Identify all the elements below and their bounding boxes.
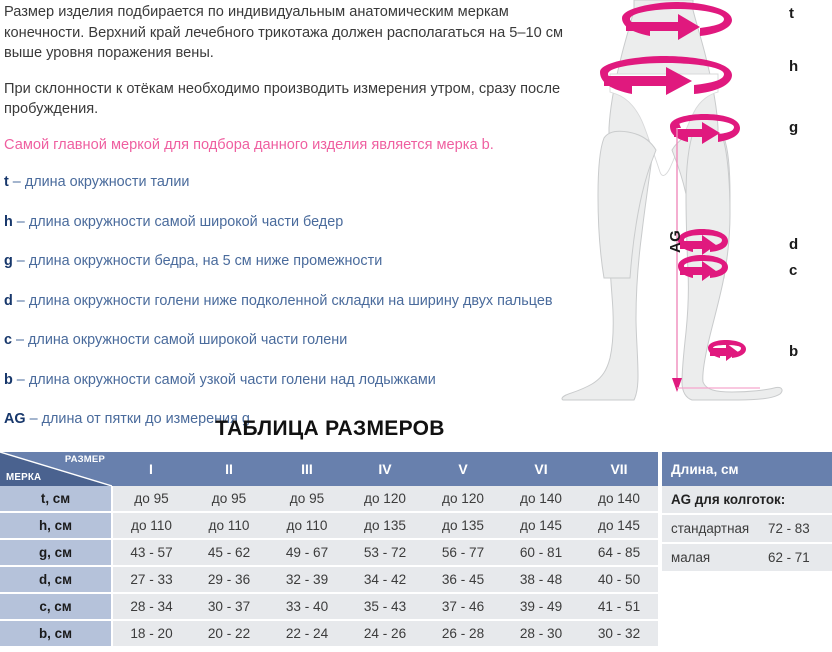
row-label-g: g, см <box>0 539 112 566</box>
legend-item-d: d – длина окружности голени ниже подколе… <box>4 292 570 311</box>
cell: 64 - 85 <box>580 539 658 566</box>
cell: до 110 <box>268 512 346 539</box>
cell: до 145 <box>580 512 658 539</box>
length-value-standard: 72 - 83 <box>766 514 832 543</box>
cell: 45 - 62 <box>190 539 268 566</box>
table-corner-cell: РАЗМЕР МЕРКА <box>0 452 112 486</box>
size-col-3: III <box>268 452 346 486</box>
legend-key-h: h <box>4 214 13 230</box>
size-table-header-row: РАЗМЕР МЕРКА I II III IV V VI VII <box>0 452 658 486</box>
legend-item-t: t – длина окружности талии <box>4 173 570 192</box>
legend-dash: – <box>16 332 24 348</box>
cell: 56 - 77 <box>424 539 502 566</box>
legend-text-h: длина окружности самой широкой части бед… <box>29 214 343 230</box>
size-col-2: II <box>190 452 268 486</box>
cell: 18 - 20 <box>112 620 190 646</box>
cell: до 135 <box>424 512 502 539</box>
length-table-subtitle-row: AG для колготок: <box>662 486 832 514</box>
corner-measure-label: МЕРКА <box>6 472 41 483</box>
top-section: Размер изделия подбирается по индивидуал… <box>0 0 832 410</box>
cell: до 120 <box>424 486 502 512</box>
measure-ring-b <box>708 340 746 361</box>
cell: 29 - 36 <box>190 566 268 593</box>
cell: до 145 <box>502 512 580 539</box>
figure-label-b: b <box>789 343 798 360</box>
measurement-diagram: t h g d c b AG <box>560 0 832 410</box>
cell: до 110 <box>190 512 268 539</box>
length-table-row: стандартная 72 - 83 <box>662 514 832 543</box>
legend-text-d: длина окружности голени ниже подколенной… <box>29 293 553 309</box>
legend-text-c: длина окружности самой широкой части гол… <box>28 332 347 348</box>
size-col-6: VI <box>502 452 580 486</box>
cell: до 95 <box>112 486 190 512</box>
legend-item-c: c – длина окружности самой широкой части… <box>4 331 570 350</box>
legend-dash: – <box>17 372 25 388</box>
size-col-4: IV <box>346 452 424 486</box>
cell: 30 - 32 <box>580 620 658 646</box>
cell: до 140 <box>580 486 658 512</box>
cell: 39 - 49 <box>502 593 580 620</box>
cell: 53 - 72 <box>346 539 424 566</box>
cell: 60 - 81 <box>502 539 580 566</box>
cell: 43 - 57 <box>112 539 190 566</box>
legend-text-t: длина окружности талии <box>25 174 190 190</box>
intro-paragraph-2: При склонности к отёкам необходимо произ… <box>4 79 570 120</box>
cell: 22 - 24 <box>268 620 346 646</box>
row-label-t: t, см <box>0 486 112 512</box>
cell: до 135 <box>346 512 424 539</box>
size-table-title: ТАБЛИЦА РАЗМЕРОВ <box>0 417 660 441</box>
table-row: t, см до 95 до 95 до 95 до 120 до 120 до… <box>0 486 658 512</box>
length-table-header-row: Длина, см <box>662 452 832 486</box>
measure-ring-g <box>670 114 740 144</box>
cell: 26 - 28 <box>424 620 502 646</box>
figure-label-c: c <box>789 262 797 279</box>
cell: 35 - 43 <box>346 593 424 620</box>
figure-label-g: g <box>789 119 798 136</box>
legend-key-d: d <box>4 293 13 309</box>
legend-dash: – <box>17 293 25 309</box>
corner-size-label: РАЗМЕР <box>65 454 105 465</box>
size-col-1: I <box>112 452 190 486</box>
cell: 33 - 40 <box>268 593 346 620</box>
size-table: РАЗМЕР МЕРКА I II III IV V VI VII t, см … <box>0 452 658 646</box>
length-label-standard: стандартная <box>662 514 766 543</box>
length-table: Длина, см AG для колготок: стандартная 7… <box>662 452 832 571</box>
cell: 24 - 26 <box>346 620 424 646</box>
row-label-c: c, см <box>0 593 112 620</box>
cell: 20 - 22 <box>190 620 268 646</box>
cell: 49 - 67 <box>268 539 346 566</box>
legend-text-b: длина окружности самой узкой части голен… <box>29 372 436 388</box>
cell: 37 - 46 <box>424 593 502 620</box>
figure-label-h: h <box>789 58 798 75</box>
row-label-b: b, см <box>0 620 112 646</box>
figure-label-t: t <box>789 5 794 22</box>
cell: 38 - 48 <box>502 566 580 593</box>
length-table-row: малая 62 - 71 <box>662 543 832 571</box>
description-column: Размер изделия подбирается по индивидуал… <box>4 2 570 450</box>
cell: 27 - 33 <box>112 566 190 593</box>
size-col-5: V <box>424 452 502 486</box>
length-table-subtitle: AG для колготок: <box>662 486 832 514</box>
cell: до 95 <box>268 486 346 512</box>
row-label-h: h, см <box>0 512 112 539</box>
size-guide-page: Размер изделия подбирается по индивидуал… <box>0 0 832 652</box>
cell: до 110 <box>112 512 190 539</box>
legend-key-t: t <box>4 174 9 190</box>
intro-paragraph-1: Размер изделия подбирается по индивидуал… <box>4 2 570 64</box>
legend-item-b: b – длина окружности самой узкой части г… <box>4 371 570 390</box>
length-label-small: малая <box>662 543 766 571</box>
row-label-d: d, см <box>0 566 112 593</box>
figure-label-d: d <box>789 236 798 253</box>
cell: до 95 <box>190 486 268 512</box>
legend-dash: – <box>17 214 25 230</box>
legend-key-g: g <box>4 253 13 269</box>
cell: до 140 <box>502 486 580 512</box>
legend-text-g: длина окружности бедра, на 5 см ниже про… <box>29 253 382 269</box>
cell: до 120 <box>346 486 424 512</box>
cell: 30 - 37 <box>190 593 268 620</box>
length-table-header: Длина, см <box>662 452 832 486</box>
highlight-note: Самой главной меркой для подбора данного… <box>4 135 570 156</box>
cell: 28 - 30 <box>502 620 580 646</box>
legend-item-g: g – длина окружности бедра, на 5 см ниже… <box>4 252 570 271</box>
cell: 34 - 42 <box>346 566 424 593</box>
figure-label-ag: AG <box>667 230 684 253</box>
table-row: g, см 43 - 57 45 - 62 49 - 67 53 - 72 56… <box>0 539 658 566</box>
cell: 32 - 39 <box>268 566 346 593</box>
table-row: c, см 28 - 34 30 - 37 33 - 40 35 - 43 37… <box>0 593 658 620</box>
cell: 28 - 34 <box>112 593 190 620</box>
size-col-7: VII <box>580 452 658 486</box>
legend-item-h: h – длина окружности самой широкой части… <box>4 213 570 232</box>
cell: 41 - 51 <box>580 593 658 620</box>
table-row: h, см до 110 до 110 до 110 до 135 до 135… <box>0 512 658 539</box>
legend-dash: – <box>17 253 25 269</box>
legend-key-b: b <box>4 372 13 388</box>
cell: 40 - 50 <box>580 566 658 593</box>
legend-dash: – <box>13 174 21 190</box>
legend-key-c: c <box>4 332 12 348</box>
table-row: d, см 27 - 33 29 - 36 32 - 39 34 - 42 36… <box>0 566 658 593</box>
length-value-small: 62 - 71 <box>766 543 832 571</box>
table-row: b, см 18 - 20 20 - 22 22 - 24 24 - 26 26… <box>0 620 658 646</box>
cell: 36 - 45 <box>424 566 502 593</box>
